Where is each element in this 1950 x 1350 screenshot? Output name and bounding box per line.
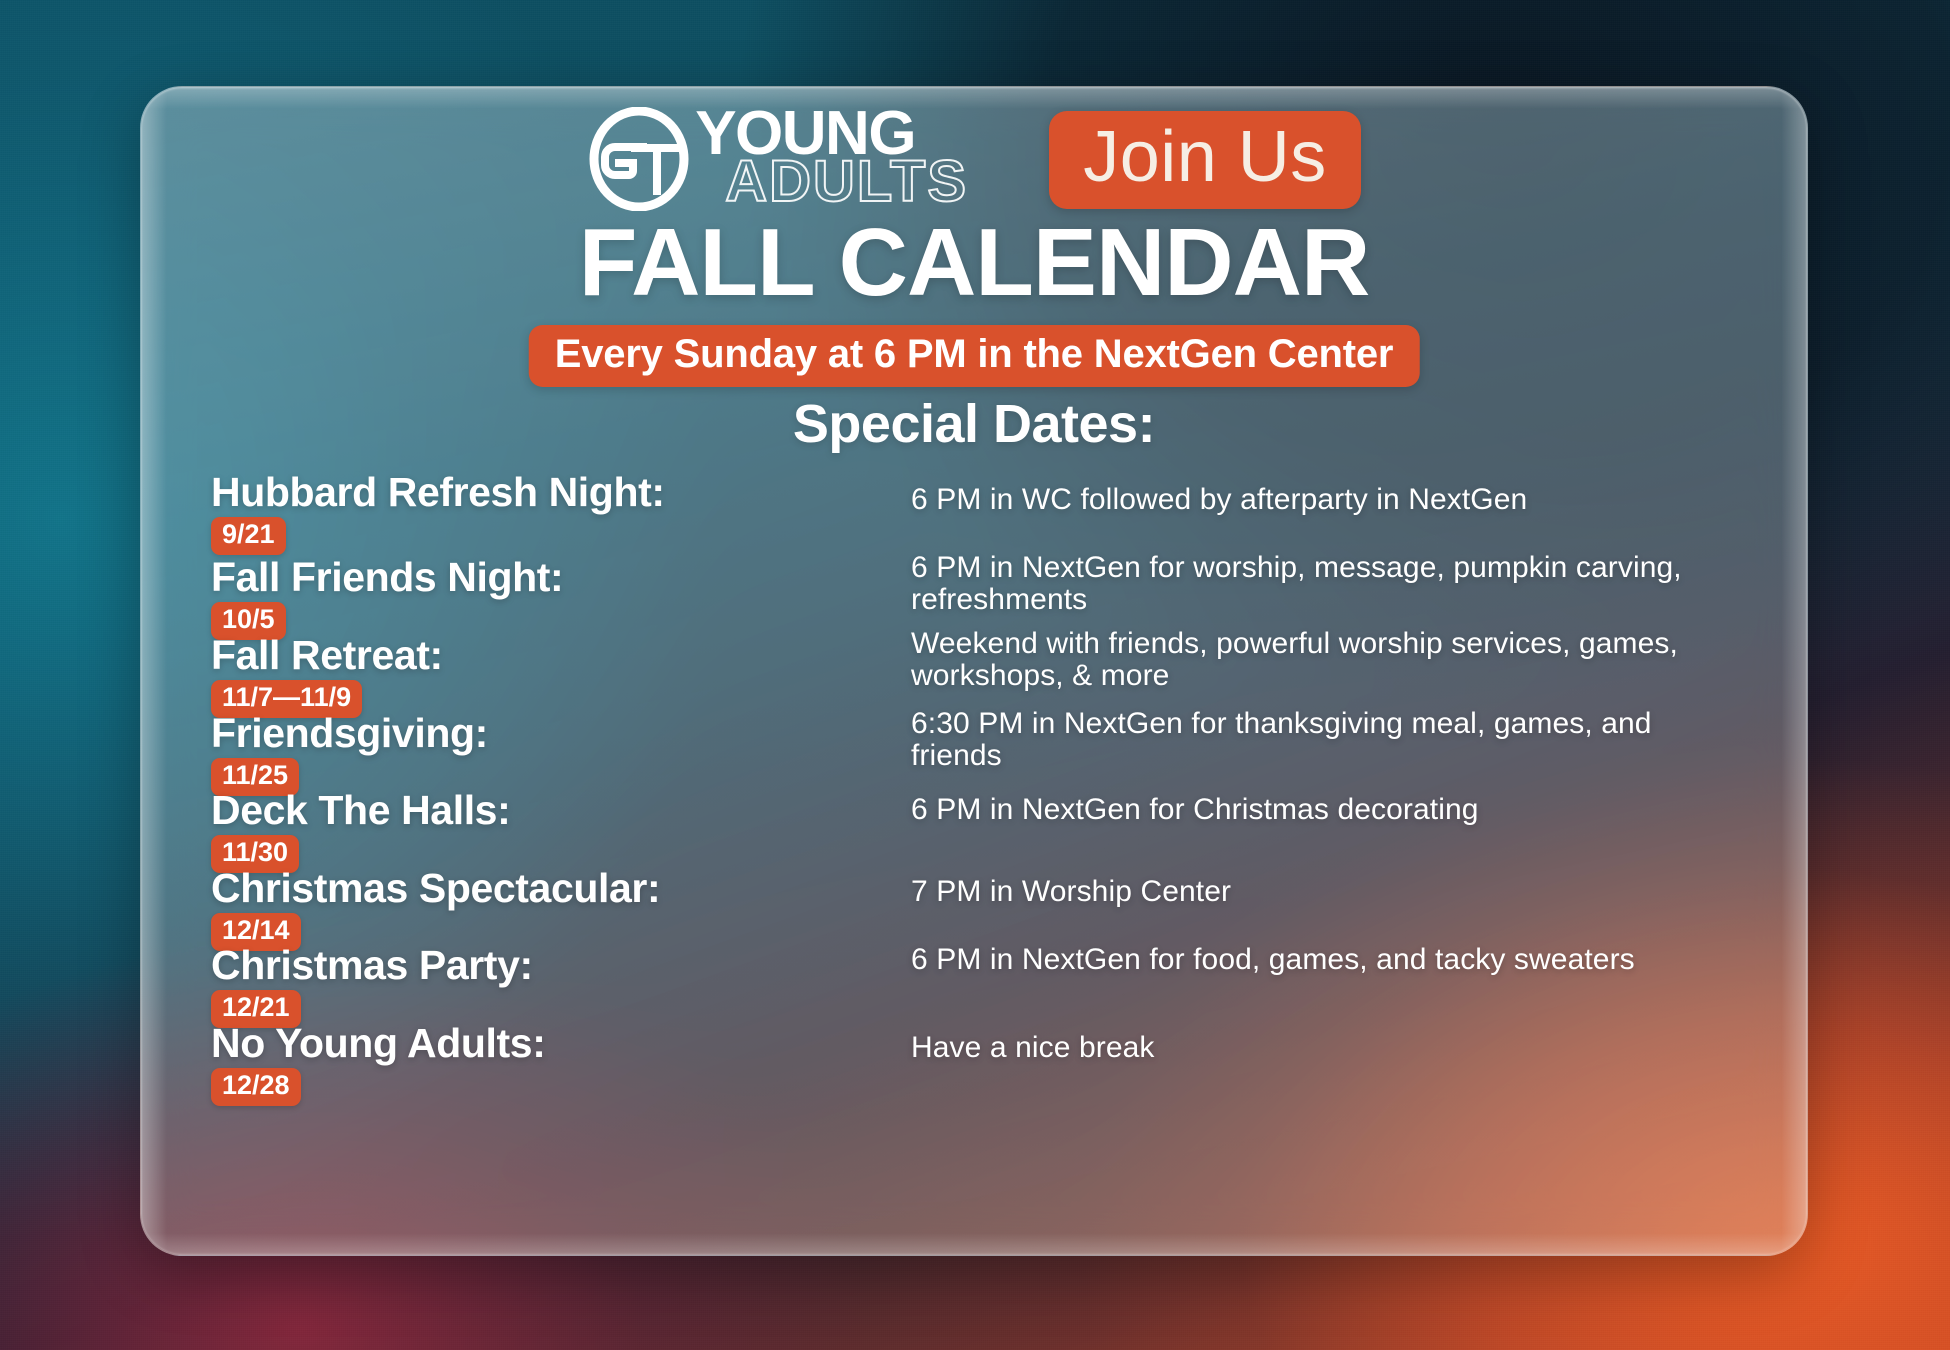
brand-line-adults: ADULTS [725,153,968,211]
event-list: Hubbard Refresh Night:9/216 PM in WC fol… [211,472,1741,1112]
event-left-column: Fall Friends Night:10/5 [211,557,911,640]
event-name: Fall Friends Night: [211,557,911,598]
event-name: Deck The Halls: [211,790,911,831]
event-row: Deck The Halls:11/306 PM in NextGen for … [211,790,1741,873]
section-heading-special-dates: Special Dates: [141,397,1807,451]
event-row: Hubbard Refresh Night:9/216 PM in WC fol… [211,472,1741,555]
event-date-badge: 9/21 [211,517,286,555]
event-name: Friendsgiving: [211,713,911,754]
glass-card: YOUNG ADULTS Join Us FALL CALENDAR Every… [140,86,1808,1256]
subtitle-bar: Every Sunday at 6 PM in the NextGen Cent… [529,325,1420,387]
event-description: 6 PM in WC followed by afterparty in Nex… [911,480,1741,516]
gt-circle-logo-icon [587,107,691,211]
poster-content: YOUNG ADULTS Join Us FALL CALENDAR Every… [141,87,1807,1255]
event-left-column: Deck The Halls:11/30 [211,790,911,873]
event-left-column: Christmas Party:12/21 [211,945,911,1028]
event-name: No Young Adults: [211,1023,911,1064]
event-description: 6:30 PM in NextGen for thanksgiving meal… [911,704,1741,772]
event-row: Christmas Party:12/216 PM in NextGen for… [211,945,1741,1028]
event-description: 6 PM in NextGen for food, games, and tac… [911,940,1741,976]
event-description: 6 PM in NextGen for Christmas decorating [911,790,1741,826]
event-left-column: No Young Adults:12/28 [211,1023,911,1106]
event-name: Christmas Spectacular: [211,868,911,909]
event-description: Have a nice break [911,1028,1741,1064]
event-name: Hubbard Refresh Night: [211,472,911,513]
event-description: Weekend with friends, powerful worship s… [911,624,1741,692]
event-left-column: Christmas Spectacular:12/14 [211,868,911,951]
event-description: 7 PM in Worship Center [911,872,1741,908]
join-us-badge[interactable]: Join Us [1049,111,1361,209]
event-left-column: Hubbard Refresh Night:9/21 [211,472,911,555]
poster-canvas: YOUNG ADULTS Join Us FALL CALENDAR Every… [0,0,1950,1350]
event-row: Christmas Spectacular:12/147 PM in Worsh… [211,868,1741,951]
brand-lockup: YOUNG ADULTS [587,105,1057,215]
page-title: FALL CALENDAR [141,215,1807,311]
header-row: YOUNG ADULTS Join Us [141,105,1807,215]
event-description: 6 PM in NextGen for worship, message, pu… [911,548,1741,616]
event-left-column: Fall Retreat:11/7—11/9 [211,635,911,718]
event-row: Friendsgiving:11/256:30 PM in NextGen fo… [211,713,1741,796]
event-row: No Young Adults:12/28Have a nice break [211,1023,1741,1106]
event-name: Fall Retreat: [211,635,911,676]
event-name: Christmas Party: [211,945,911,986]
event-left-column: Friendsgiving:11/25 [211,713,911,796]
event-date-badge: 12/28 [211,1068,301,1106]
